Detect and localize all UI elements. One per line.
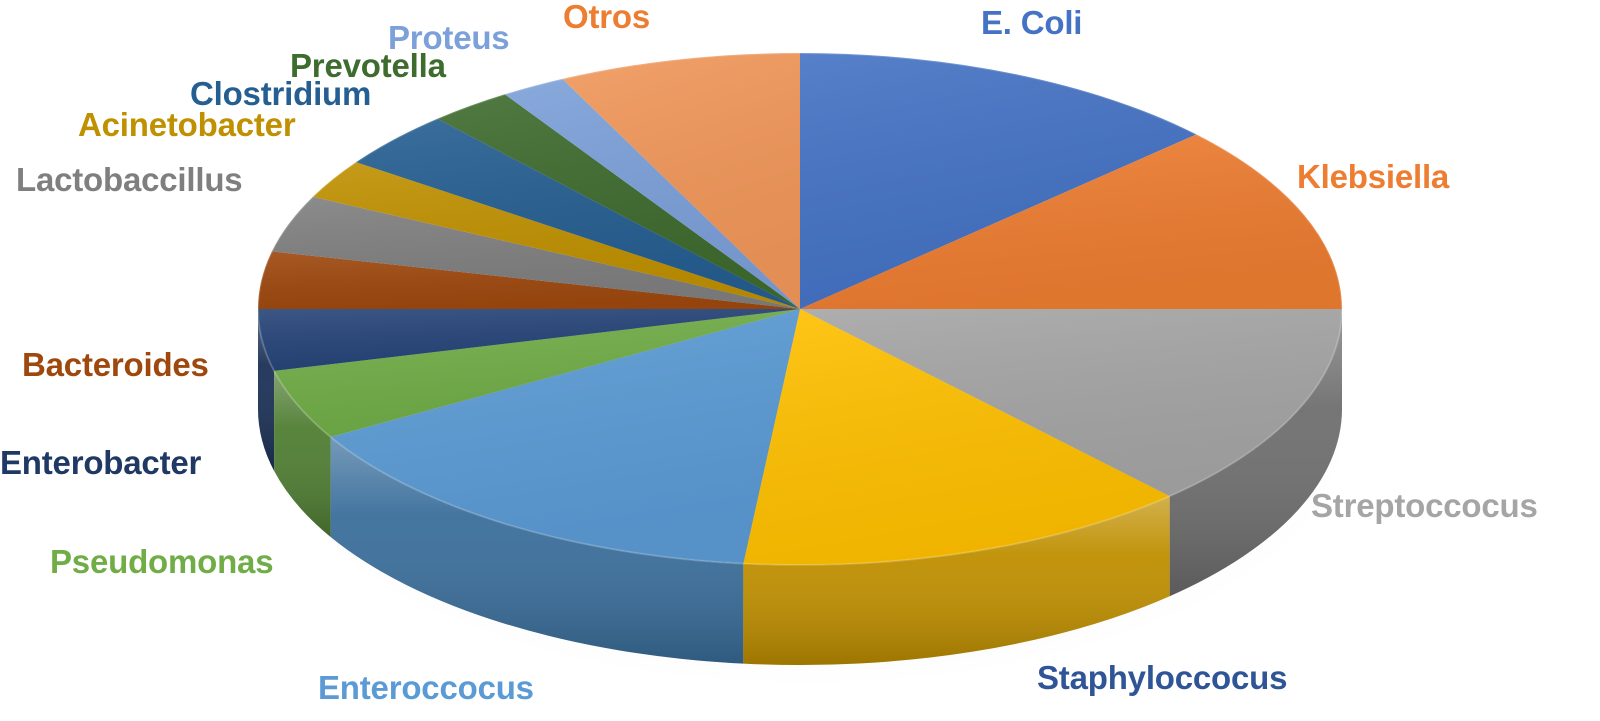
label-enterobacter: Enterobacter <box>0 446 201 479</box>
label-acinetobacter: Acinetobacter <box>78 108 295 141</box>
label-klebsiella: Klebsiella <box>1297 160 1449 193</box>
label-streptoccocus: Streptoccocus <box>1311 489 1538 522</box>
label-staphyloccocus: Staphyloccocus <box>1037 661 1287 694</box>
pie-3d-top-surface <box>258 53 1342 565</box>
label-pseudomonas: Pseudomonas <box>50 545 273 578</box>
label-otros: Otros <box>563 0 650 33</box>
label-enteroccocus: Enteroccocus <box>318 671 534 704</box>
label-bacteroides: Bacteroides <box>22 348 209 381</box>
pie-chart-figure: OtrosProteusPrevotellaClostridiumAcineto… <box>0 0 1600 721</box>
label-ecoli: E. Coli <box>981 6 1082 39</box>
label-lactobaccillus: Lactobaccillus <box>16 163 242 196</box>
